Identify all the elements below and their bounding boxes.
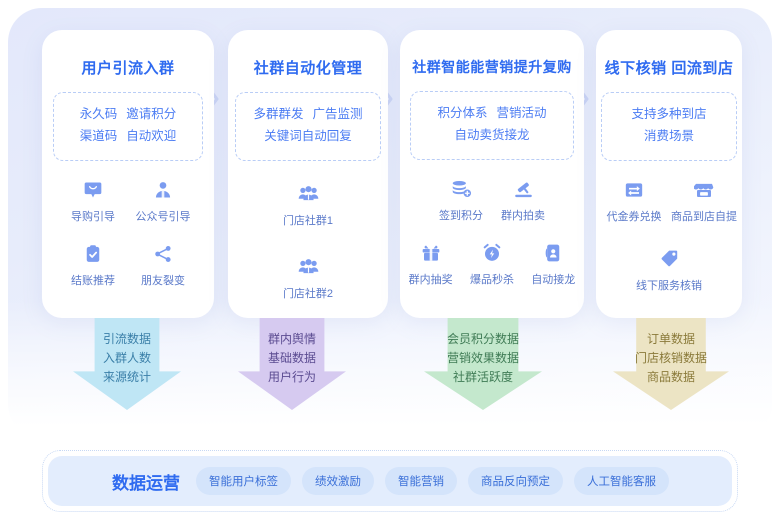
feature-grid: 代金券兑换 商品到店自提 线下服务核销 bbox=[596, 177, 742, 293]
feature-item[interactable]: 线下服务核销 bbox=[614, 246, 724, 293]
feature-item[interactable]: 门店社群2 bbox=[273, 254, 343, 301]
feature-label: 自动接龙 bbox=[523, 271, 584, 287]
feature-label: 门店社群1 bbox=[273, 212, 343, 228]
card-tag: 自动欢迎 bbox=[126, 129, 176, 143]
feature-item[interactable]: 结账推荐 bbox=[58, 241, 128, 288]
feature-item[interactable]: 公众号引导 bbox=[128, 177, 198, 224]
storefront-icon bbox=[669, 177, 739, 203]
stage-card-group-automation[interactable]: 社群自动化管理 多群群发广告监测 关键词自动回复 门店社群1 bbox=[228, 30, 388, 318]
bottom-bar-title: 数据运营 bbox=[112, 469, 180, 494]
coins-plus-icon bbox=[430, 176, 492, 202]
card-tag: 支持多种到店 bbox=[631, 107, 706, 121]
id-card-icon bbox=[523, 240, 584, 266]
card-title: 用户引流入群 bbox=[42, 57, 214, 78]
feature-grid: 门店社群1 门店社群2 bbox=[228, 181, 388, 301]
share-nodes-icon bbox=[128, 241, 198, 267]
chip-smart-marketing[interactable]: 智能营销 bbox=[385, 467, 457, 495]
feature-item[interactable]: 门店社群1 bbox=[273, 181, 343, 228]
infographic-root: 用户引流入群 永久码邀请积分 渠道码自动欢迎 导购引导 bbox=[0, 0, 780, 530]
price-tag-icon bbox=[614, 246, 724, 272]
chip-performance-incentive[interactable]: 绩效激励 bbox=[302, 467, 374, 495]
card-tag: 渠道码 bbox=[80, 129, 118, 143]
feature-item[interactable]: 签到积分 bbox=[430, 176, 492, 223]
feature-label: 公众号引导 bbox=[128, 208, 198, 224]
alarm-clock-icon bbox=[461, 240, 522, 266]
stage-card-offline-redemption[interactable]: 线下核销 回流到店 支持多种到店 消费场景 代金券兑换 bbox=[596, 30, 742, 318]
feature-label: 爆品秒杀 bbox=[461, 271, 522, 287]
data-arrow-automation: 群内舆情 基础数据 用户行为 bbox=[238, 318, 346, 410]
arrow-line: 商品数据 bbox=[635, 368, 707, 387]
data-arrow-offline: 订单数据 门店核销数据 商品数据 bbox=[613, 318, 729, 410]
card-tag-box: 支持多种到店 消费场景 bbox=[601, 92, 737, 161]
arrow-line: 引流数据 bbox=[103, 330, 151, 349]
clipboard-check-icon bbox=[58, 241, 128, 267]
arrow-line: 门店核销数据 bbox=[635, 349, 707, 368]
data-arrow-marketing: 会员积分数据 营销效果数据 社群活跃度 bbox=[424, 318, 542, 410]
card-tag-box: 积分体系营销活动 自动卖货接龙 bbox=[410, 91, 574, 160]
feature-label: 线下服务核销 bbox=[614, 277, 724, 293]
feature-item[interactable]: 群内拍卖 bbox=[492, 176, 554, 223]
feature-item[interactable]: 爆品秒杀 bbox=[461, 240, 522, 287]
chat-bubble-icon bbox=[58, 177, 128, 203]
arrow-text: 订单数据 门店核销数据 商品数据 bbox=[635, 318, 707, 388]
feature-grid: 签到积分 群内拍卖 群内抽奖 bbox=[400, 176, 584, 287]
stage-card-user-acquisition[interactable]: 用户引流入群 永久码邀请积分 渠道码自动欢迎 导购引导 bbox=[42, 30, 214, 318]
arrow-text: 会员积分数据 营销效果数据 社群活跃度 bbox=[447, 318, 519, 388]
arrow-line: 基础数据 bbox=[268, 349, 316, 368]
chip-product-reverse-booking[interactable]: 商品反向预定 bbox=[468, 467, 563, 495]
feature-label: 签到积分 bbox=[430, 207, 492, 223]
gift-box-icon bbox=[400, 240, 461, 266]
card-tag: 消费场景 bbox=[644, 129, 694, 143]
coupon-exchange-icon bbox=[599, 177, 669, 203]
feature-item[interactable]: 导购引导 bbox=[58, 177, 128, 224]
card-title: 社群智能能营销提升复购 bbox=[400, 57, 584, 77]
arrow-text: 群内舆情 基础数据 用户行为 bbox=[268, 318, 316, 388]
arrow-line: 入群人数 bbox=[103, 349, 151, 368]
feature-label: 导购引导 bbox=[58, 208, 128, 224]
card-tag: 营销活动 bbox=[497, 106, 547, 120]
arrow-text: 引流数据 入群人数 来源统计 bbox=[103, 318, 151, 388]
group-people-icon bbox=[273, 181, 343, 207]
card-row: 用户引流入群 永久码邀请积分 渠道码自动欢迎 导购引导 bbox=[0, 30, 780, 320]
card-tag: 自动卖货接龙 bbox=[454, 128, 529, 142]
arrow-line: 用户行为 bbox=[268, 368, 316, 387]
feature-item[interactable]: 商品到店自提 bbox=[669, 177, 739, 224]
feature-label: 群内拍卖 bbox=[492, 207, 554, 223]
feature-item[interactable]: 朋友裂变 bbox=[128, 241, 198, 288]
card-tag: 永久码 bbox=[80, 107, 118, 121]
group-people-icon bbox=[273, 254, 343, 280]
feature-label: 门店社群2 bbox=[273, 285, 343, 301]
card-tag-box: 多群群发广告监测 关键词自动回复 bbox=[235, 92, 381, 161]
card-tag: 广告监测 bbox=[313, 107, 363, 121]
card-tag: 多群群发 bbox=[253, 107, 303, 121]
feature-item[interactable]: 群内抽奖 bbox=[400, 240, 461, 287]
feature-label: 群内抽奖 bbox=[400, 271, 461, 287]
feature-item[interactable]: 代金券兑换 bbox=[599, 177, 669, 224]
feature-item[interactable]: 自动接龙 bbox=[523, 240, 584, 287]
card-title: 线下核销 回流到店 bbox=[596, 57, 742, 78]
card-tag: 邀请积分 bbox=[126, 107, 176, 121]
arrow-line: 营销效果数据 bbox=[447, 349, 519, 368]
card-title: 社群自动化管理 bbox=[228, 57, 388, 78]
feature-label: 代金券兑换 bbox=[599, 208, 669, 224]
data-arrow-acquisition: 引流数据 入群人数 来源统计 bbox=[73, 318, 181, 410]
arrow-line: 订单数据 bbox=[635, 330, 707, 349]
card-tag: 积分体系 bbox=[437, 106, 487, 120]
feature-label: 朋友裂变 bbox=[128, 272, 198, 288]
arrow-line: 来源统计 bbox=[103, 368, 151, 387]
auction-hammer-icon bbox=[492, 176, 554, 202]
data-operations-bar: 数据运营 智能用户标签 绩效激励 智能营销 商品反向预定 人工智能客服 bbox=[48, 456, 732, 506]
feature-label: 结账推荐 bbox=[58, 272, 128, 288]
arrow-line: 会员积分数据 bbox=[447, 330, 519, 349]
card-tag: 关键词自动回复 bbox=[264, 129, 352, 143]
feature-grid: 导购引导 公众号引导 结账推荐 bbox=[42, 177, 214, 288]
feature-label: 商品到店自提 bbox=[669, 208, 739, 224]
card-tag-box: 永久码邀请积分 渠道码自动欢迎 bbox=[53, 92, 203, 161]
chip-smart-user-tags[interactable]: 智能用户标签 bbox=[196, 467, 291, 495]
chip-ai-customer-service[interactable]: 人工智能客服 bbox=[574, 467, 669, 495]
user-badge-icon bbox=[128, 177, 198, 203]
stage-card-smart-marketing[interactable]: 社群智能能营销提升复购 积分体系营销活动 自动卖货接龙 签到积分 bbox=[400, 30, 584, 318]
arrow-line: 社群活跃度 bbox=[447, 368, 519, 387]
arrow-line: 群内舆情 bbox=[268, 330, 316, 349]
